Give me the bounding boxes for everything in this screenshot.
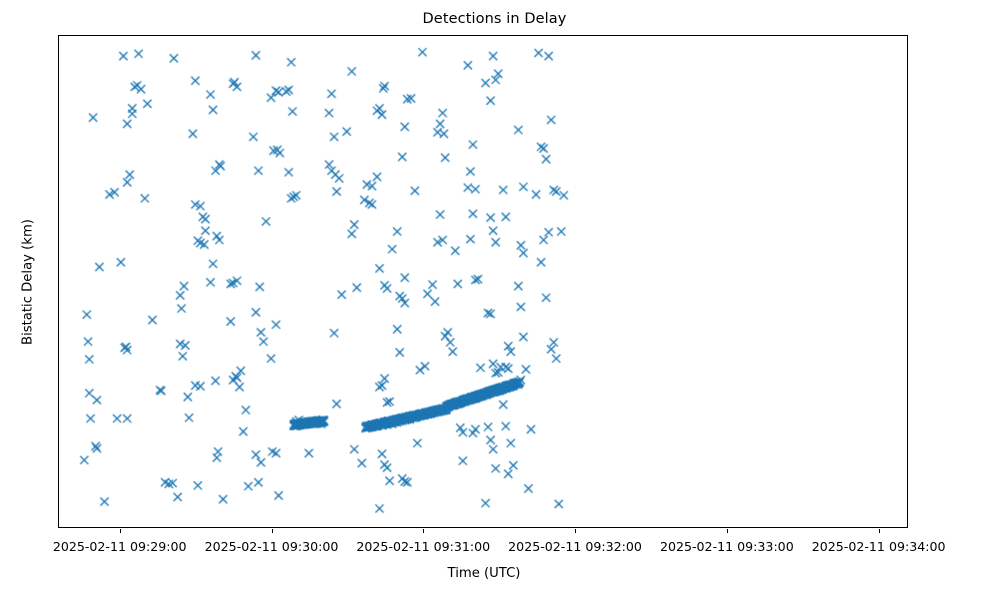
x-tick-mark [120, 529, 121, 533]
y-axis-label: Bistatic Delay (km) [21, 219, 36, 345]
x-tick-label: 2025-02-11 09:34:00 [759, 539, 989, 554]
x-axis-label: Time (UTC) [59, 566, 909, 581]
x-tick-mark [272, 529, 273, 533]
x-tick-mark [879, 529, 880, 533]
x-tick-mark [423, 529, 424, 533]
scatter-plot-area[interactable] [59, 36, 907, 527]
figure-canvas: Detections in Delay 0102030405060 2025-0… [0, 0, 989, 590]
plot-axes: 0102030405060 2025-02-11 09:29:002025-02… [58, 35, 908, 528]
x-tick-mark [727, 529, 728, 533]
x-tick-mark [575, 529, 576, 533]
page-title: Detections in Delay [0, 11, 989, 27]
